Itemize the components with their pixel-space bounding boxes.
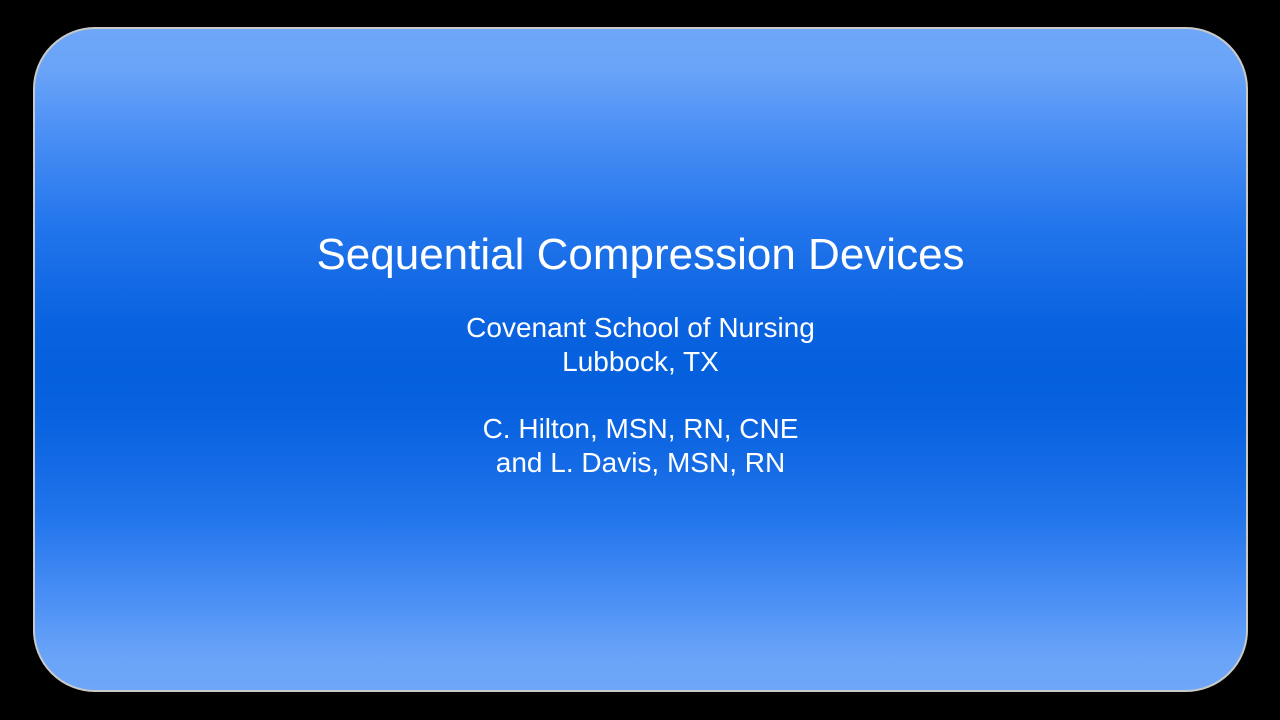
title-slide-panel: Sequential Compression Devices Covenant … [33,27,1248,692]
subtitle-spacer [35,378,1246,412]
slide-text-block: Sequential Compression Devices Covenant … [35,229,1246,479]
subtitle-line-location: Lubbock, TX [35,345,1246,379]
slide-title: Sequential Compression Devices [35,229,1246,281]
slide-subtitle-group: Covenant School of Nursing Lubbock, TX C… [35,311,1246,479]
author-line-secondary: and L. Davis, MSN, RN [35,446,1246,480]
author-line-primary: C. Hilton, MSN, RN, CNE [35,412,1246,446]
presentation-slide: Sequential Compression Devices Covenant … [0,0,1280,720]
subtitle-line-organization: Covenant School of Nursing [35,311,1246,345]
